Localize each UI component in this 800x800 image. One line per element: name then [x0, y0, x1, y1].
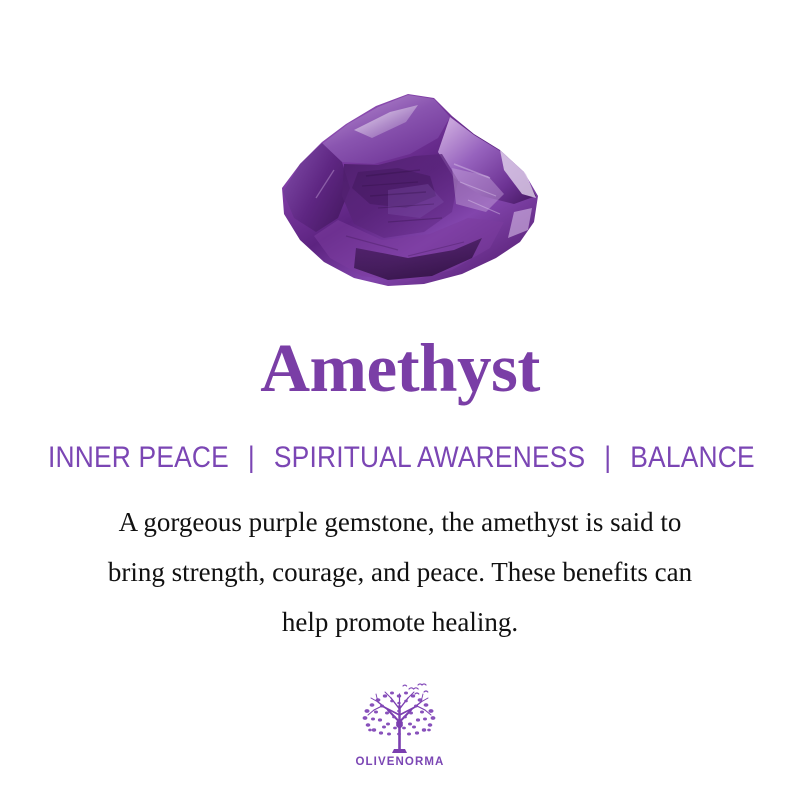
keyword-balance: BALANCE — [630, 441, 754, 474]
keyword-list: INNER PEACE | SPIRITUAL AWARENESS | BALA… — [48, 440, 752, 476]
hero-image-area — [0, 0, 800, 310]
description-line-3: help promote healing. — [40, 597, 760, 647]
description-line-2: bring strength, courage, and peace. Thes… — [40, 547, 760, 597]
keyword-spiritual-awareness: SPIRITUAL AWARENESS — [274, 441, 585, 474]
keyword-separator-2: | — [593, 441, 623, 474]
amethyst-info-card: Amethyst INNER PEACE | SPIRITUAL AWARENE… — [0, 0, 800, 800]
page-title: Amethyst — [0, 330, 800, 406]
brand-wordmark: OLIVENORMA — [0, 756, 800, 768]
keyword-separator-1: | — [236, 441, 266, 474]
raw-amethyst-crystal-image — [238, 72, 568, 297]
description-line-1: A gorgeous purple gemstone, the amethyst… — [40, 497, 760, 547]
tree-icon — [354, 682, 446, 754]
keyword-inner-peace: INNER PEACE — [48, 441, 229, 474]
brand-logo[interactable]: OLIVENORMA — [0, 682, 800, 768]
description-text: A gorgeous purple gemstone, the amethyst… — [40, 497, 760, 647]
tree-canopy — [363, 684, 436, 753]
